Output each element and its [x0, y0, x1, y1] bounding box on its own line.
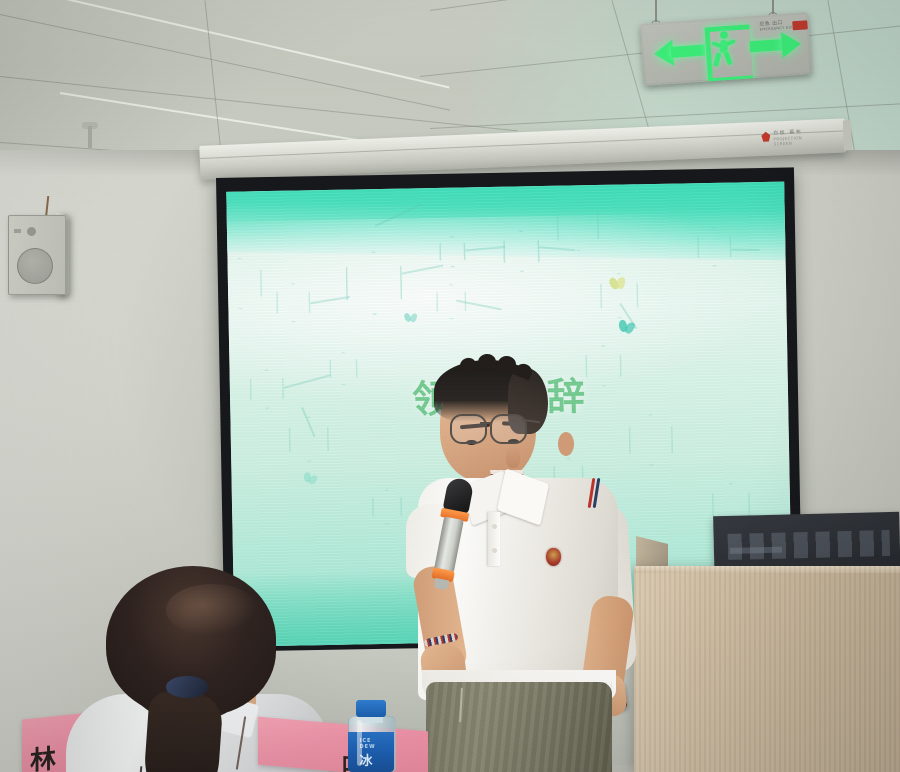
water-bottle-center[interactable]: ICE DEW 冰露 — [348, 700, 394, 772]
emergency-exit-sign: 应急 出口 EMERGENCY EXIT — [640, 12, 812, 86]
brand-mark-icon — [761, 132, 770, 142]
presenter-shirt-placket — [488, 512, 500, 566]
running-man-icon — [711, 30, 739, 68]
audience-ponytail — [142, 690, 223, 772]
exit-status-indicator — [792, 20, 808, 30]
ceiling-grid-line — [0, 14, 450, 111]
ceiling-grid-line — [40, 0, 450, 88]
speaker-knob — [27, 227, 36, 236]
exit-sign-chain-left — [655, 0, 657, 22]
speaker-vent — [14, 229, 21, 233]
wall-mounted-loudspeaker — [8, 215, 66, 295]
laptop-screen-content — [728, 530, 891, 560]
bottle-brand-text: 冰露 — [360, 750, 383, 772]
presenter-glasses — [450, 414, 487, 444]
hair-tie — [166, 676, 208, 698]
presenter-shirt-logo — [546, 548, 561, 566]
brand-text-en: PROJECTION SCREEN — [773, 135, 807, 146]
laptop-screen-content — [730, 547, 782, 554]
bottle-cap — [356, 700, 385, 717]
speaker-cone — [17, 248, 53, 284]
screen-brand-logo: 白板 幕布 PROJECTION SCREEN — [761, 129, 808, 145]
presenter-ear — [558, 432, 574, 456]
housing-end-cap — [843, 120, 852, 150]
presenter-trousers — [426, 682, 612, 772]
screen-mount-post — [88, 126, 92, 148]
bottle-label: ICE DEW 冰露 — [348, 732, 394, 772]
placard-left-text: 林 — [30, 737, 69, 772]
ceiling-grid-line — [205, 0, 223, 159]
photo-scene: 应急 出口 EMERGENCY EXIT 白板 幕布 PROJECTION SC… — [0, 0, 900, 772]
wooden-lectern[interactable] — [634, 566, 900, 772]
bottle-sub-text: ICE DEW — [360, 738, 383, 750]
lectern-wood-grain — [634, 566, 900, 772]
